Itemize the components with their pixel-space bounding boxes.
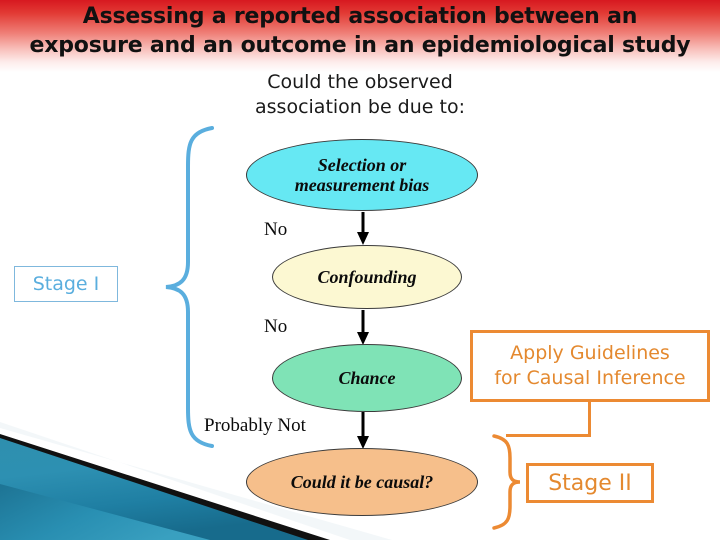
page-title-line1: Assessing a reported association between…: [0, 2, 720, 31]
stage-2-box[interactable]: Stage II: [526, 463, 654, 503]
page-subtitle: Could the observed association be due to…: [0, 70, 720, 120]
node-confounding[interactable]: Confounding: [272, 245, 462, 309]
stage-1-box[interactable]: Stage I: [14, 266, 118, 302]
node-selection-measurement-bias[interactable]: Selection or measurement bias: [246, 139, 478, 211]
edge-label-no-1: No: [264, 219, 287, 241]
node-bias-line2: measurement bias: [295, 175, 430, 195]
edge-label-no-2: No: [264, 316, 287, 338]
slide-canvas: Assessing a reported association between…: [0, 0, 720, 540]
page-title: Assessing a reported association between…: [0, 2, 720, 60]
connector-horizontal: [506, 434, 591, 437]
curly-brace-right-icon: [488, 432, 524, 532]
guidelines-line2: for Causal Inference: [494, 366, 685, 391]
node-chance[interactable]: Chance: [272, 344, 462, 412]
page-subtitle-line1: Could the observed: [0, 70, 720, 95]
arrow-down-icon: [353, 310, 373, 346]
page-subtitle-line2: association be due to:: [0, 95, 720, 120]
node-could-it-be-causal[interactable]: Could it be causal?: [246, 448, 478, 516]
node-chance-label: Chance: [338, 368, 395, 388]
arrow-down-icon: [353, 412, 373, 450]
page-title-line2: exposure and an outcome in an epidemiolo…: [0, 31, 720, 60]
guidelines-line1: Apply Guidelines: [494, 341, 685, 366]
node-causal-label: Could it be causal?: [291, 472, 434, 492]
curly-brace-left-icon: [160, 122, 220, 452]
node-confounding-label: Confounding: [317, 267, 416, 287]
edge-label-probably-not: Probably Not: [204, 415, 306, 437]
apply-guidelines-box[interactable]: Apply Guidelines for Causal Inference: [470, 330, 710, 402]
stage-1-label: Stage I: [33, 273, 100, 295]
stage-2-label: Stage II: [548, 471, 632, 496]
node-bias-line1: Selection or: [295, 155, 430, 175]
arrow-down-icon: [353, 212, 373, 246]
connector-vertical: [588, 402, 591, 436]
